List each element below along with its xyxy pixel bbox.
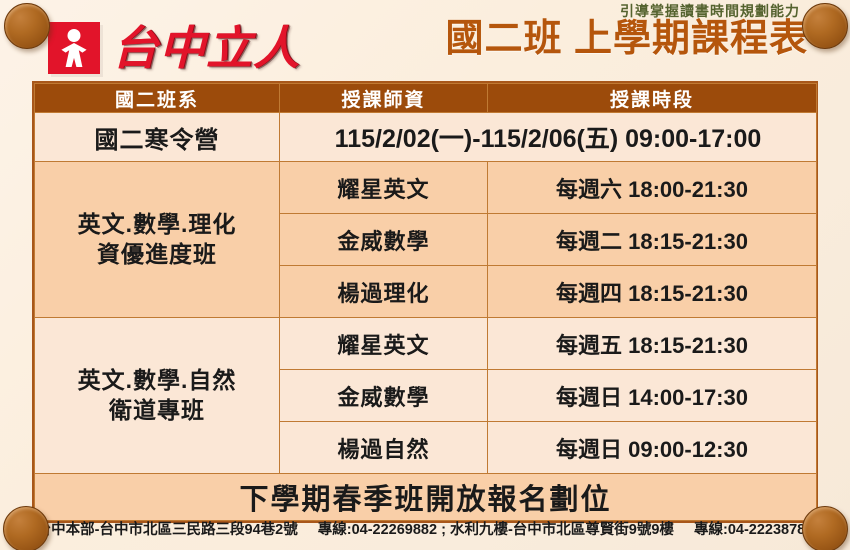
- camp-detail: 115/2/02(一)-115/2/06(五) 09:00-17:00: [280, 113, 817, 162]
- brand-logo: 台中立人: [48, 20, 300, 76]
- table-header-row: 國二班系 授課師資 授課時段: [35, 84, 817, 113]
- class-period: 每週五 18:15-21:30: [488, 318, 817, 370]
- poster-subtitle: 引導掌握讀書時間規劃能力: [445, 4, 800, 19]
- group-label-line2: 資優進度班: [35, 240, 279, 270]
- class-period: 每週六 18:00-21:30: [488, 162, 817, 214]
- group-label-line2: 衛道專班: [35, 396, 279, 426]
- class-period: 每週日 09:00-12:30: [488, 422, 817, 474]
- footer-phone1: 專線:04-22269882 ;: [318, 522, 446, 538]
- class-period: 每週二 18:15-21:30: [488, 214, 817, 266]
- promo-banner-text: 下學期春季班開放報名劃位: [35, 474, 817, 521]
- footer-branch2: 水利九樓-台中市北區尊賢街9號9樓: [450, 522, 674, 538]
- class-period: 每週四 18:15-21:30: [488, 266, 817, 318]
- table-body: 國二寒令營 115/2/02(一)-115/2/06(五) 09:00-17:0…: [35, 113, 817, 521]
- column-header-period: 授課時段: [488, 84, 817, 113]
- schedule-table-container: 國二班系 授課師資 授課時段 國二寒令營 115/2/02(一)-115/2/0…: [32, 81, 818, 523]
- group-label-weidao: 英文.數學.自然 衛道專班: [35, 318, 280, 474]
- title-block: 引導掌握讀書時間規劃能力 國二班 上學期課程表: [445, 4, 808, 60]
- teacher-name: 楊過理化: [280, 266, 488, 318]
- table-row: 英文.數學.理化 資優進度班 耀星英文 每週六 18:00-21:30: [35, 162, 817, 214]
- person-logo-body: [59, 43, 89, 67]
- teacher-name: 金威數學: [280, 370, 488, 422]
- corner-knob-bottom-right: [802, 506, 848, 550]
- brand-name: 台中立人: [112, 25, 300, 71]
- table-header: 國二班系 授課師資 授課時段: [35, 84, 817, 113]
- teacher-name: 耀星英文: [280, 318, 488, 370]
- page-title: 國二班 上學期課程表: [445, 20, 808, 60]
- table-row-winter-camp: 國二寒令營 115/2/02(一)-115/2/06(五) 09:00-17:0…: [35, 113, 817, 162]
- teacher-name: 金威數學: [280, 214, 488, 266]
- group-label-line1: 英文.數學.理化: [35, 210, 279, 240]
- column-header-teacher: 授課師資: [280, 84, 488, 113]
- footer-contact: 台中本部-台中市北區三民路三段94巷2號 專線:04-22269882 ; 水利…: [0, 518, 850, 539]
- class-period: 每週日 14:00-17:30: [488, 370, 817, 422]
- corner-knob-bottom-left: [3, 506, 49, 550]
- footer-branch1: 台中本部-台中市北區三民路三段94巷2號: [37, 522, 298, 538]
- schedule-table: 國二班系 授課師資 授課時段 國二寒令營 115/2/02(一)-115/2/0…: [34, 83, 817, 521]
- corner-knob-top-right: [802, 3, 848, 49]
- group-label-line1: 英文.數學.自然: [35, 366, 279, 396]
- person-logo-icon: [48, 22, 100, 74]
- person-logo-head: [68, 29, 81, 42]
- footer-phone2: 專線:04-22238788: [694, 522, 813, 538]
- corner-knob-top-left: [4, 3, 50, 49]
- poster-header: 台中立人 引導掌握讀書時間規劃能力 國二班 上學期課程表: [0, 0, 850, 82]
- camp-name: 國二寒令營: [35, 113, 280, 162]
- teacher-name: 耀星英文: [280, 162, 488, 214]
- table-row: 英文.數學.自然 衛道專班 耀星英文 每週五 18:15-21:30: [35, 318, 817, 370]
- table-row-promo-banner: 下學期春季班開放報名劃位: [35, 474, 817, 521]
- poster-root: 台中立人 引導掌握讀書時間規劃能力 國二班 上學期課程表 國二班系 授課師資 授…: [0, 0, 850, 550]
- column-header-class: 國二班系: [35, 84, 280, 113]
- group-label-advanced: 英文.數學.理化 資優進度班: [35, 162, 280, 318]
- teacher-name: 楊過自然: [280, 422, 488, 474]
